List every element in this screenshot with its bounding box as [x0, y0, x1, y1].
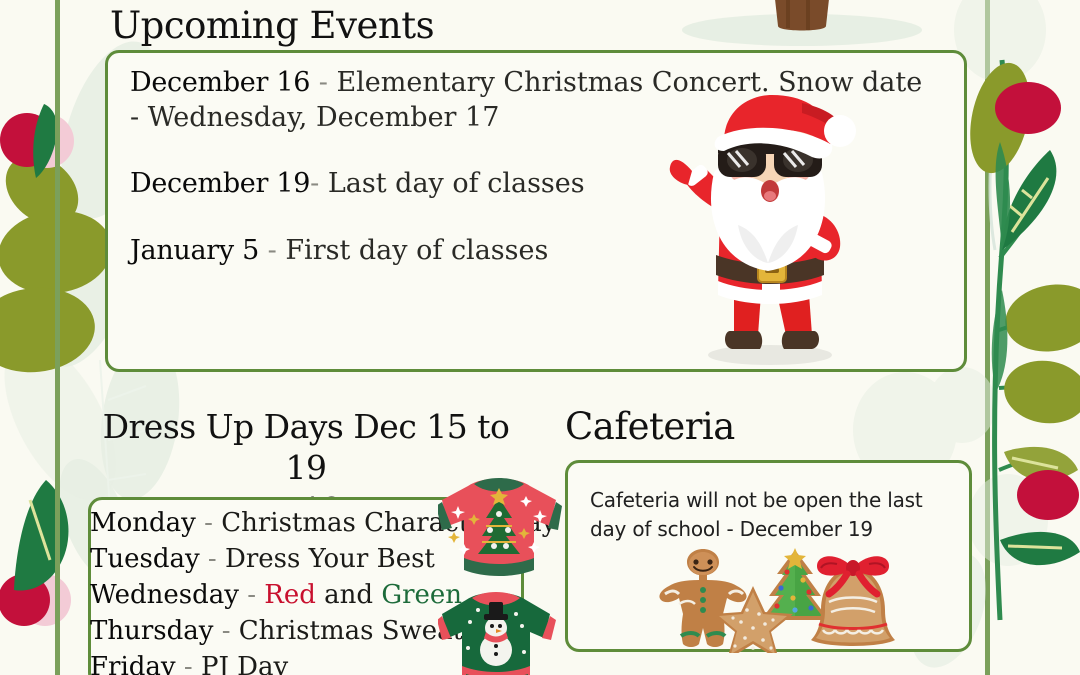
event-separator: -	[310, 168, 328, 199]
santa-illustration	[662, 95, 877, 370]
dress-up-theme: Dress Your Best	[225, 544, 435, 574]
christmas-cookies-illustration	[645, 548, 900, 653]
christmas-sweaters-illustration	[438, 470, 563, 675]
dress-up-day: Friday	[90, 652, 176, 675]
dress-up-day: Monday	[90, 508, 196, 538]
dress-up-day: Thursday	[90, 616, 213, 646]
dress-up-day: Wednesday	[90, 580, 239, 610]
dress-up-separator: -	[213, 616, 238, 646]
dress-up-separator: -	[196, 508, 221, 538]
cafeteria-notice: Cafeteria will not be open the last day …	[590, 486, 950, 544]
dress-up-separator: -	[239, 580, 264, 610]
event-date: December 19	[130, 168, 310, 199]
dress-up-theme: PJ Day	[201, 652, 288, 675]
event-description: First day of classes	[285, 235, 548, 266]
event-date: January 5	[130, 235, 259, 266]
dress-up-theme-red: Red	[264, 580, 316, 610]
dress-up-day: Tuesday	[90, 544, 200, 574]
event-separator: -	[310, 67, 336, 98]
flyer-canvas: Upcoming Events December 16 - Elementary…	[0, 0, 1080, 675]
event-description: Last day of classes	[328, 168, 585, 199]
event-separator: -	[259, 235, 285, 266]
dress-up-separator: -	[200, 544, 225, 574]
dress-up-separator: -	[176, 652, 201, 675]
christmas-tree-illustration	[612, 0, 992, 50]
dress-up-theme-conjunction: and	[316, 580, 381, 610]
events-title: Upcoming Events	[110, 4, 434, 47]
cafeteria-title: Cafeteria	[565, 405, 735, 448]
event-date: December 16	[130, 67, 310, 98]
